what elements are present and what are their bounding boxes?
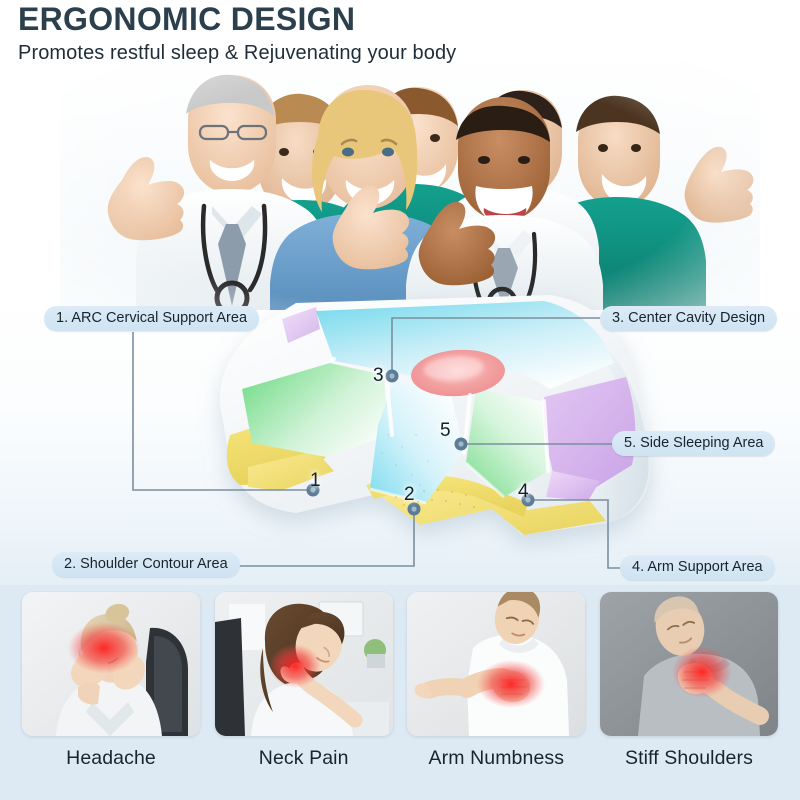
infographic-root: ERGONOMIC DESIGN Promotes restful sleep … [0, 0, 800, 800]
symptom-card-neck-pain: Neck Pain [215, 592, 393, 800]
symptom-caption-stiff-shoulders: Stiff Shoulders [600, 746, 778, 770]
stiff-shoulders-photo [600, 592, 778, 736]
symptom-card-headache: Headache [22, 592, 200, 800]
symptom-caption-headache: Headache [22, 746, 200, 770]
callout-label-center-cavity-design: 3. Center Cavity Design [600, 306, 777, 331]
callout-label-arm-support-area: 4. Arm Support Area [620, 555, 775, 580]
marker-number-2: 2 [404, 484, 415, 506]
page-subtitle: Promotes restful sleep & Rejuvenating yo… [18, 40, 778, 66]
marker-number-1: 1 [310, 470, 321, 492]
marker-number-3: 3 [373, 365, 384, 387]
callout-label-side-sleeping-area: 5. Side Sleeping Area [612, 431, 775, 456]
symptom-caption-neck-pain: Neck Pain [215, 746, 393, 770]
symptom-card-arm-numbness: Arm Numbness [407, 592, 585, 800]
neck-pain-photo [215, 592, 393, 736]
headache-photo [22, 592, 200, 736]
marker-number-4: 4 [518, 481, 529, 503]
doctors-thumbs-up-photo [60, 48, 760, 310]
callout-label-shoulder-contour-area: 2. Shoulder Contour Area [52, 552, 240, 577]
marker-number-5: 5 [440, 420, 451, 442]
symptom-card-stiff-shoulders: Stiff Shoulders [600, 592, 778, 800]
arm-numbness-photo [407, 592, 585, 736]
callout-label-arc-cervical-support-area: 1. ARC Cervical Support Area [44, 306, 259, 331]
symptom-caption-arm-numbness: Arm Numbness [407, 746, 585, 770]
header-block: ERGONOMIC DESIGN Promotes restful sleep … [18, 2, 778, 66]
symptom-card-row: Headache [0, 592, 800, 800]
page-title: ERGONOMIC DESIGN [18, 2, 778, 36]
